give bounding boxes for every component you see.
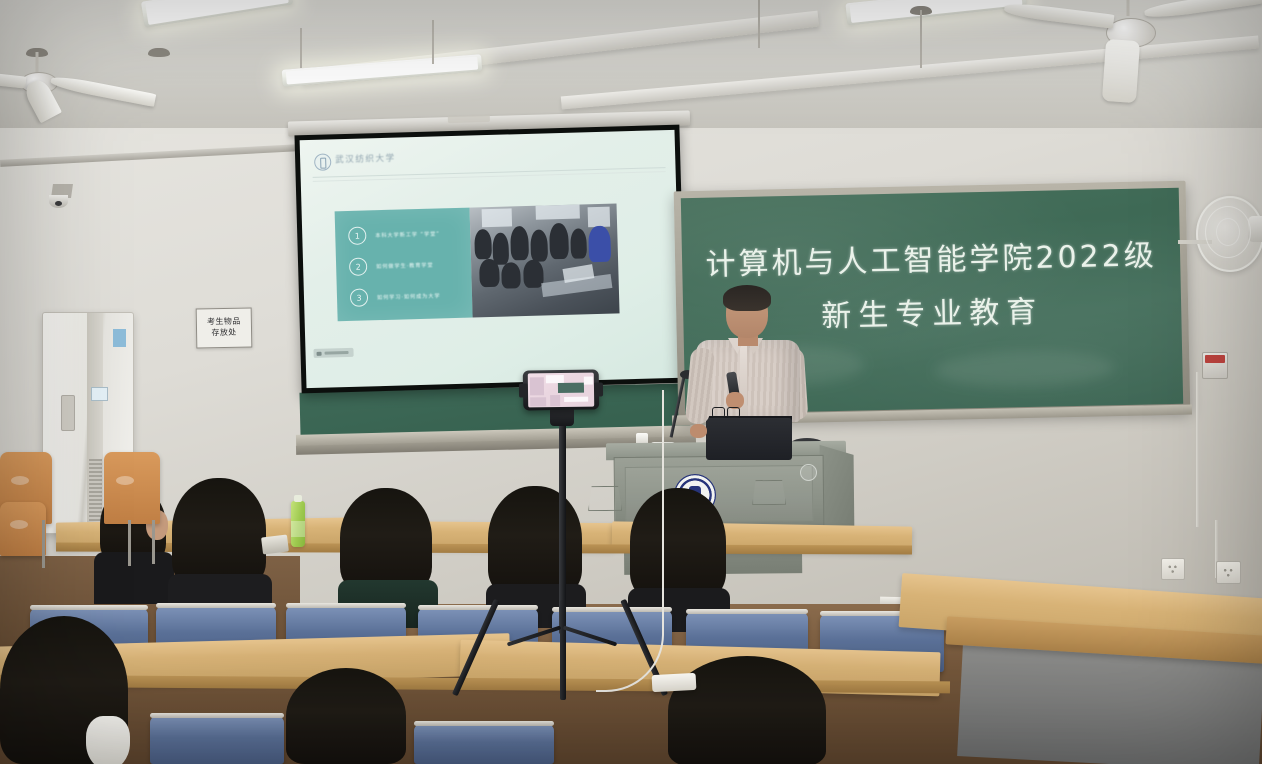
blackboard-title-line1: 计算机与人工智能学院2022级 xyxy=(682,230,1181,284)
photo-person xyxy=(479,259,500,288)
phone-ui-tile xyxy=(564,397,588,402)
photo-person xyxy=(549,223,569,260)
phone-screen[interactable] xyxy=(528,373,594,408)
fan-rod xyxy=(1127,0,1130,16)
bullet-number: 3 xyxy=(350,288,368,306)
wall-sign-line2: 存放处 xyxy=(211,328,236,339)
slide-photo xyxy=(470,203,620,317)
wall-sign-line1: 考生物品 xyxy=(207,317,241,328)
ac-blue-accent xyxy=(113,329,126,347)
presenter-shirt-placket xyxy=(740,344,747,422)
projection-screen[interactable]: 武汉纺织大学 1 本科大学新工学 “学堂” 2 如何做学生·教育学堂 3 xyxy=(294,125,686,394)
bullet-number: 1 xyxy=(348,226,366,244)
ac-vent-grille xyxy=(89,459,102,521)
student-torso xyxy=(94,552,174,604)
slide-bullet-panel: 1 本科大学新工学 “学堂” 2 如何做学生·教育学堂 3 如何学习·如何成为大… xyxy=(335,208,473,322)
chair-back[interactable] xyxy=(150,716,284,764)
smartphone[interactable] xyxy=(523,369,600,410)
fan-blade xyxy=(50,74,157,107)
wall-control-box[interactable] xyxy=(1202,352,1228,379)
bottle-cap xyxy=(294,495,302,502)
presenter-hair xyxy=(723,285,771,311)
wall-box-red-display xyxy=(1205,355,1225,363)
light-hanger xyxy=(300,28,302,68)
chair-leg xyxy=(152,520,155,564)
slide-logo-text: 武汉纺织大学 xyxy=(335,152,396,166)
bullet-text: 本科大学新工学 “学堂” xyxy=(375,230,440,239)
chair-leg xyxy=(42,520,45,568)
usb-charging-cable xyxy=(596,390,664,692)
eyeglasses-icon xyxy=(712,404,740,420)
phone-ui-tile xyxy=(546,375,564,383)
photo-person-blue xyxy=(588,226,611,263)
photo-person xyxy=(530,229,548,261)
power-adapter xyxy=(652,673,697,692)
photo-window xyxy=(588,207,611,228)
wall-sign-exam-storage: 考生物品 存放处 xyxy=(196,308,253,349)
presenter xyxy=(690,288,806,458)
student-hair xyxy=(286,668,406,764)
photo-person xyxy=(501,262,521,289)
fan-suspension-wire xyxy=(758,0,760,48)
fan-blade xyxy=(1144,0,1262,20)
screen-housing-tab xyxy=(448,115,490,123)
photo-person xyxy=(492,232,509,264)
photo-person xyxy=(510,226,529,260)
wall-socket[interactable] xyxy=(1161,558,1185,580)
fan-blade xyxy=(1102,39,1140,103)
student-hair xyxy=(488,486,582,596)
phone-ui-tile xyxy=(584,377,593,385)
presenter-trousers xyxy=(706,418,792,460)
phone-ui-tile xyxy=(530,397,546,406)
bullet-number: 2 xyxy=(349,257,367,275)
lectern-trapezoid-right xyxy=(752,480,786,505)
chair-back[interactable] xyxy=(414,724,554,764)
wall-conduit xyxy=(1196,372,1199,527)
photo-person xyxy=(570,228,587,258)
socket-holes xyxy=(1220,565,1237,580)
wooden-chair[interactable] xyxy=(104,452,160,524)
phone-ui-tile xyxy=(550,395,560,406)
student-hair xyxy=(340,488,432,592)
chair-leg xyxy=(128,520,131,566)
camera-lens xyxy=(55,201,62,206)
lectern-side xyxy=(820,445,855,537)
ac-badge xyxy=(91,387,108,401)
student-hair xyxy=(172,478,266,586)
bottle-label xyxy=(291,521,305,537)
bullet-text: 如何学习·如何成为大学 xyxy=(377,292,441,301)
light-hanger xyxy=(432,20,434,64)
lecture-hall-photo: 考生物品 存放处 武汉纺织大学 1 本科大学新工 xyxy=(0,0,1262,764)
oscillating-wall-fan[interactable] xyxy=(1196,196,1262,272)
presenter-hand-right xyxy=(690,424,707,438)
socket-holes xyxy=(1165,562,1181,576)
photo-person xyxy=(474,229,492,259)
phone-ui-preview xyxy=(558,383,584,393)
notebook xyxy=(261,534,289,554)
bullet-text: 如何做学生·教育学堂 xyxy=(376,261,434,270)
face-mask xyxy=(86,716,130,764)
tripod-leg xyxy=(560,600,566,700)
beverage-bottle xyxy=(291,501,305,547)
presenter-control-bar[interactable] xyxy=(313,348,353,358)
university-seal-icon xyxy=(314,153,331,170)
chalk-smudge xyxy=(934,349,1115,389)
photo-window xyxy=(482,208,512,227)
fan-ceiling-mount xyxy=(148,48,170,57)
fan-suspension-wire xyxy=(920,10,922,68)
photo-window xyxy=(536,204,580,219)
lectern-knob[interactable] xyxy=(800,464,817,481)
slide-header: 武汉纺织大学 xyxy=(314,143,665,175)
projection-screen-surface: 武汉纺织大学 1 本科大学新工学 “学堂” 2 如何做学生·教育学堂 3 xyxy=(300,130,682,388)
ac-display-panel xyxy=(61,395,75,431)
slide-content: 1 本科大学新工学 “学堂” 2 如何做学生·教育学堂 3 如何学习·如何成为大… xyxy=(335,203,620,321)
ceiling-fan xyxy=(1040,0,1260,106)
phone-clamp-left xyxy=(519,383,528,397)
wooden-chair[interactable] xyxy=(0,502,46,556)
list-item: 1 本科大学新工学 “学堂” xyxy=(348,224,440,245)
list-item: 2 如何做学生·教育学堂 xyxy=(349,256,434,276)
list-item: 3 如何学习·如何成为大学 xyxy=(350,286,441,307)
wall-socket[interactable] xyxy=(1216,561,1241,584)
fan-blade xyxy=(0,67,26,88)
phone-ui-tile xyxy=(530,377,544,395)
ceiling-fan xyxy=(0,52,180,132)
